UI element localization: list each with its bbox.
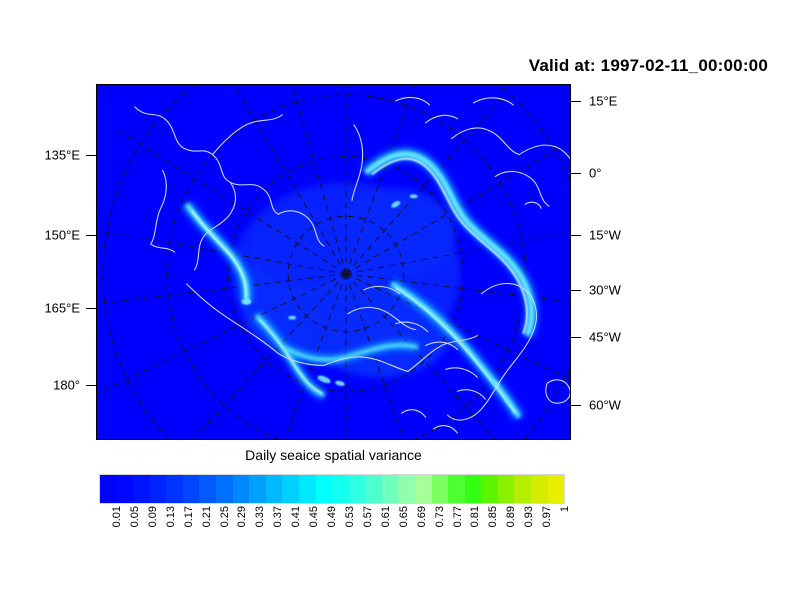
colorbar-tick-22: 0.89 bbox=[505, 506, 517, 527]
page-title: Valid at: 1997-02-11_00:00:00 bbox=[0, 56, 768, 76]
colorbar-band-15 bbox=[349, 475, 366, 503]
axis-label-left-3: 180° bbox=[0, 379, 80, 392]
map-canvas bbox=[97, 85, 570, 439]
axis-label-right-5: 60°W bbox=[589, 399, 621, 412]
colorbar-band-5 bbox=[183, 475, 200, 503]
colorbar-band-27 bbox=[548, 475, 565, 503]
axis-label-left-1: 150°E bbox=[0, 229, 80, 242]
axis-label-right-0: 15°E bbox=[589, 95, 617, 108]
axis-label-right-2: 15°W bbox=[589, 229, 621, 242]
colorbar-band-20 bbox=[432, 475, 449, 503]
axis-label-left-2: 165°E bbox=[0, 302, 80, 315]
colorbar-tick-16: 0.65 bbox=[398, 506, 410, 527]
tick-right-2 bbox=[571, 235, 581, 236]
colorbar-band-26 bbox=[531, 475, 548, 503]
tick-left-2 bbox=[86, 308, 96, 309]
colorbar[interactable] bbox=[99, 474, 565, 504]
colorbar-tick-13: 0.53 bbox=[344, 506, 356, 527]
colorbar-band-4 bbox=[166, 475, 183, 503]
colorbar-band-25 bbox=[514, 475, 531, 503]
colorbar-tick-2: 0.09 bbox=[147, 506, 159, 527]
axis-label-left-0: 135°E bbox=[0, 149, 80, 162]
colorbar-band-6 bbox=[199, 475, 216, 503]
colorbar-tick-0: 0.01 bbox=[111, 506, 123, 527]
colorbar-tick-18: 0.73 bbox=[434, 506, 446, 527]
colorbar-tick-25: 1 bbox=[559, 506, 571, 512]
axis-label-right-3: 30°W bbox=[589, 284, 621, 297]
map-plot-area[interactable] bbox=[96, 84, 571, 440]
colorbar-gradient bbox=[99, 474, 565, 504]
figure-canvas: Valid at: 1997-02-11_00:00:00 bbox=[0, 0, 792, 612]
colorbar-tick-19: 0.77 bbox=[452, 506, 464, 527]
colorbar-tick-14: 0.57 bbox=[362, 506, 374, 527]
colorbar-band-2 bbox=[133, 475, 150, 503]
colorbar-tick-5: 0.21 bbox=[201, 506, 213, 527]
tick-left-3 bbox=[86, 385, 96, 386]
axis-label-right-1: 0° bbox=[589, 167, 601, 180]
colorbar-band-0 bbox=[100, 475, 117, 503]
colorbar-tick-8: 0.33 bbox=[254, 506, 266, 527]
colorbar-tick-1: 0.05 bbox=[129, 506, 141, 527]
colorbar-band-21 bbox=[448, 475, 465, 503]
tick-right-5 bbox=[571, 405, 581, 406]
colorbar-tick-11: 0.45 bbox=[308, 506, 320, 527]
colorbar-tick-10: 0.41 bbox=[290, 506, 302, 527]
colorbar-tick-7: 0.29 bbox=[236, 506, 248, 527]
colorbar-tick-17: 0.69 bbox=[416, 506, 428, 527]
plot-caption: Daily seaice spatial variance bbox=[96, 447, 571, 463]
colorbar-band-23 bbox=[481, 475, 498, 503]
colorbar-band-19 bbox=[415, 475, 432, 503]
colorbar-tick-15: 0.61 bbox=[380, 506, 392, 527]
colorbar-tick-20: 0.81 bbox=[469, 506, 481, 527]
colorbar-band-14 bbox=[332, 475, 349, 503]
colorbar-tick-4: 0.17 bbox=[183, 506, 195, 527]
colorbar-band-13 bbox=[316, 475, 333, 503]
colorbar-tick-labels: 0.010.050.090.130.170.210.250.290.330.37… bbox=[99, 506, 565, 566]
colorbar-band-12 bbox=[299, 475, 316, 503]
tick-left-1 bbox=[86, 235, 96, 236]
colorbar-tick-12: 0.49 bbox=[326, 506, 338, 527]
colorbar-band-10 bbox=[266, 475, 283, 503]
colorbar-band-16 bbox=[365, 475, 382, 503]
colorbar-tick-3: 0.13 bbox=[165, 506, 177, 527]
colorbar-band-1 bbox=[117, 475, 134, 503]
tick-right-3 bbox=[571, 290, 581, 291]
colorbar-band-8 bbox=[233, 475, 250, 503]
colorbar-band-9 bbox=[249, 475, 266, 503]
colorbar-band-3 bbox=[150, 475, 167, 503]
colorbar-band-17 bbox=[382, 475, 399, 503]
colorbar-band-22 bbox=[465, 475, 482, 503]
tick-right-4 bbox=[571, 337, 581, 338]
tick-right-0 bbox=[571, 101, 581, 102]
colorbar-band-24 bbox=[498, 475, 515, 503]
colorbar-tick-9: 0.37 bbox=[272, 506, 284, 527]
colorbar-band-7 bbox=[216, 475, 233, 503]
tick-right-1 bbox=[571, 173, 581, 174]
colorbar-tick-24: 0.97 bbox=[541, 506, 553, 527]
colorbar-tick-21: 0.85 bbox=[487, 506, 499, 527]
colorbar-band-18 bbox=[398, 475, 415, 503]
axis-label-right-4: 45°W bbox=[589, 331, 621, 344]
colorbar-tick-6: 0.25 bbox=[219, 506, 231, 527]
tick-left-0 bbox=[86, 155, 96, 156]
colorbar-tick-23: 0.93 bbox=[523, 506, 535, 527]
colorbar-band-11 bbox=[282, 475, 299, 503]
